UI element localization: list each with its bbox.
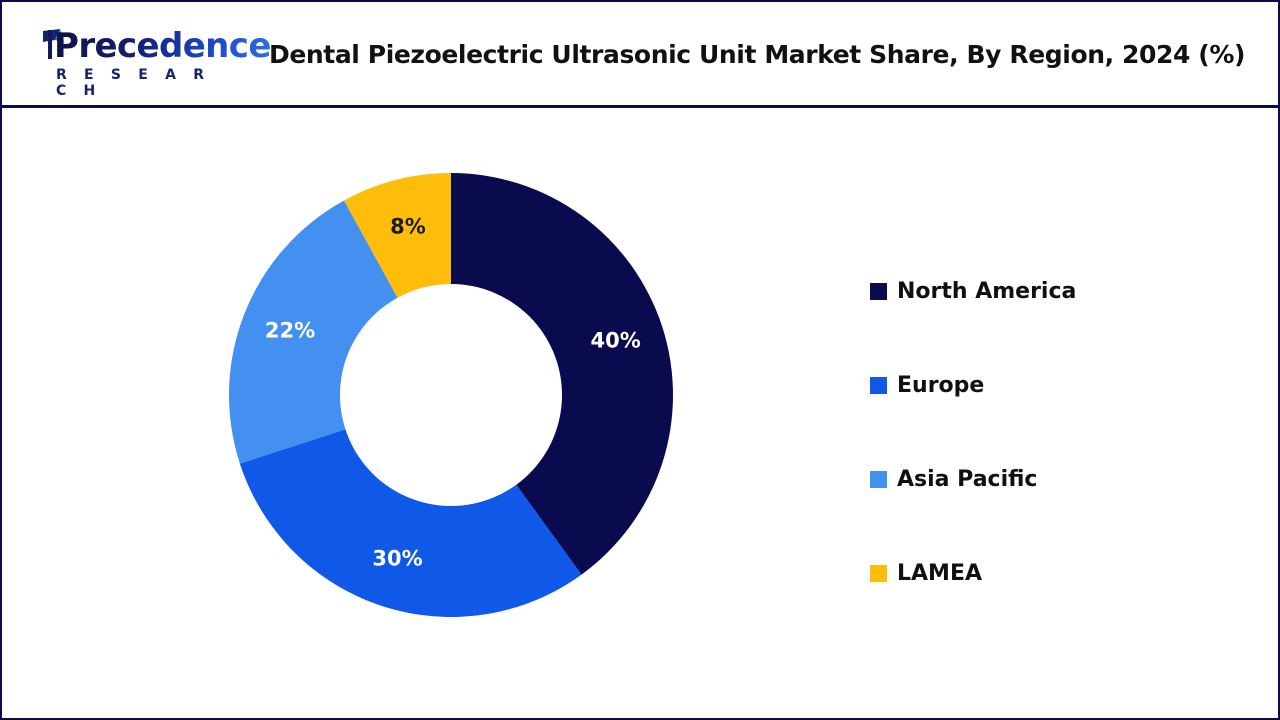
page-title: Dental Piezoelectric Ultrasonic Unit Mar…: [252, 40, 1262, 69]
legend-label: LAMEA: [897, 561, 982, 586]
slice-label-asia-pacific: 22%: [265, 318, 315, 342]
legend-label: Europe: [897, 373, 984, 398]
slice-label-lamea: 8%: [390, 214, 426, 238]
slice-label-europe: 30%: [372, 547, 422, 571]
donut-hole: [340, 284, 562, 506]
donut-chart-svg: 40% 30% 22% 8%: [228, 172, 674, 618]
slice-label-north-america: 40%: [591, 328, 641, 352]
chart-card: Precedence R E S E A R C H Dental Piezoe…: [0, 0, 1280, 720]
legend-item-lamea[interactable]: LAMEA: [870, 526, 1200, 620]
chart-legend: North America Europe Asia Pacific LAMEA: [870, 244, 1200, 620]
legend-swatch-icon: [870, 377, 887, 394]
chart-body: 40% 30% 22% 8% North America Europe Asia…: [2, 108, 1278, 719]
legend-item-europe[interactable]: Europe: [870, 338, 1200, 432]
legend-item-north-america[interactable]: North America: [870, 244, 1200, 338]
legend-swatch-icon: [870, 283, 887, 300]
legend-label: North America: [897, 279, 1076, 304]
logo-subtitle: R E S E A R C H: [56, 67, 228, 99]
legend-item-asia-pacific[interactable]: Asia Pacific: [870, 432, 1200, 526]
header-bar: Precedence R E S E A R C H Dental Piezoe…: [2, 2, 1278, 108]
donut-chart: 40% 30% 22% 8%: [228, 172, 674, 618]
legend-swatch-icon: [870, 471, 887, 488]
legend-label: Asia Pacific: [897, 467, 1037, 492]
logo-wordmark: Precedence: [54, 26, 271, 66]
legend-swatch-icon: [870, 565, 887, 582]
precedence-research-logo: Precedence R E S E A R C H: [16, 26, 228, 88]
